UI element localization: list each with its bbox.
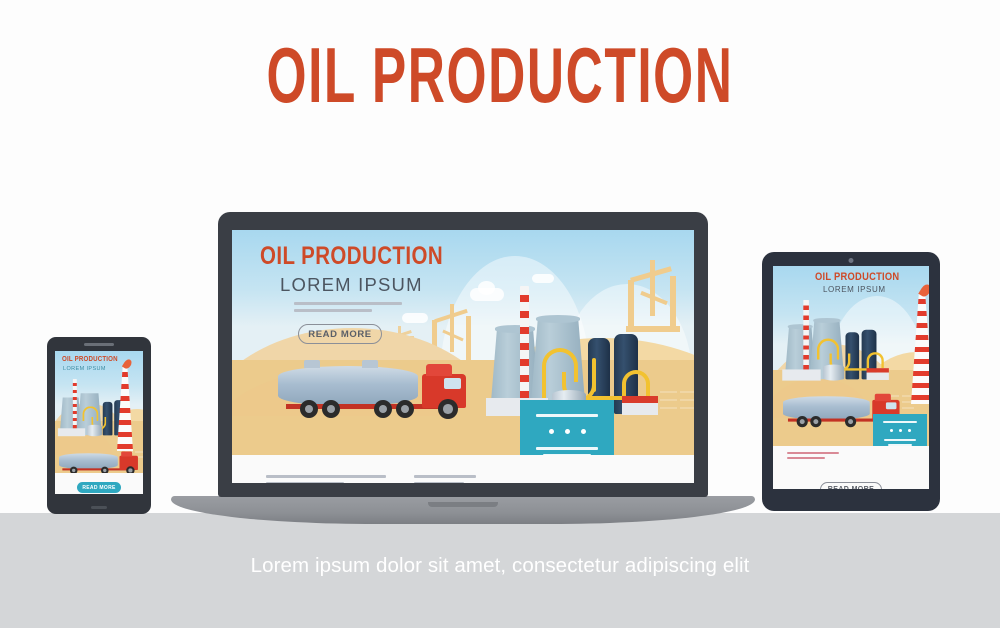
- card-dot-3: [581, 429, 586, 434]
- tablet-device: OIL PRODUCTION LOREM IPSUM: [762, 252, 940, 511]
- card-line-bottom-1: [536, 447, 598, 450]
- laptop-trackpad-notch: [428, 502, 498, 507]
- body-line-1: [294, 302, 402, 305]
- footer-right-line-2: [414, 482, 464, 483]
- phone-frame: OIL PRODUCTION LOREM IPSUM READ MORE: [47, 337, 151, 514]
- laptop-device: OIL PRODUCTION LOREM IPSUM READ MORE: [218, 212, 708, 497]
- tablet-truck-wheel-2: [810, 416, 821, 427]
- phone-drilling-derrick: [117, 365, 133, 451]
- truck-wheel-5: [438, 399, 458, 419]
- laptop-footer-block-left: [266, 475, 386, 483]
- pipe-loop-3: [622, 370, 650, 396]
- tablet-drilling-derrick: [911, 292, 929, 404]
- tablet-truck-cab-top: [875, 394, 891, 401]
- phone-derrick-body: [117, 365, 133, 451]
- cloud-4: [532, 274, 554, 283]
- tablet-smokestack: [803, 300, 809, 377]
- smokestack: [520, 286, 529, 410]
- truck-cab-top: [426, 364, 452, 376]
- cloud-3: [402, 313, 428, 323]
- phone-read-more-button[interactable]: READ MORE: [77, 482, 121, 493]
- phone-home-indicator: [91, 506, 107, 509]
- phone-subheadline: LOREM IPSUM: [63, 367, 106, 373]
- footer-right-line-1: [414, 475, 476, 478]
- oil-barrel-2: [680, 384, 694, 414]
- tablet-body-line-1: [787, 452, 839, 454]
- cooling-tower-2-rim: [536, 315, 580, 323]
- laptop-footer: [232, 455, 694, 483]
- shed-red: [622, 396, 658, 403]
- phone-tanker-truck: [59, 449, 93, 461]
- laptop-footer-block-right: [414, 475, 476, 483]
- tablet-refinery: [781, 300, 862, 372]
- phone-speaker-grill: [84, 343, 114, 346]
- tablet-tanker-truck: [783, 390, 857, 416]
- tablet-card-dot-3: [908, 429, 911, 432]
- laptop-headline: OIL PRODUCTION: [260, 244, 443, 269]
- tablet-body-block-left: [787, 452, 839, 459]
- tablet-footer: READ MORE: [773, 446, 929, 489]
- truck-wheel-2: [322, 400, 340, 418]
- truck-wheel-3: [374, 400, 392, 418]
- tablet-subheadline: LOREM IPSUM: [823, 286, 886, 294]
- tablet-cooling-tower-2-rim: [813, 318, 840, 323]
- truck-wheel-4: [396, 400, 414, 418]
- phone-truck-tank: [59, 453, 118, 469]
- card-dot-2: [565, 429, 570, 434]
- tablet-card-line-bottom-1: [884, 439, 916, 441]
- tablet-truck-wheel-3: [845, 416, 856, 427]
- truck-window: [444, 378, 461, 389]
- laptop-subheadline: LOREM IPSUM: [280, 276, 423, 295]
- tablet-card-dot-2: [899, 429, 902, 432]
- tablet-shed-small: [867, 373, 889, 380]
- pipe-segment-2: [592, 358, 596, 392]
- tablet-screen[interactable]: OIL PRODUCTION LOREM IPSUM: [773, 266, 929, 489]
- phone-footer: READ MORE: [55, 473, 143, 494]
- tablet-shed-long: [782, 369, 820, 380]
- tablet-pipe-loop-3: [867, 352, 884, 368]
- tablet-card-line-top: [883, 421, 917, 423]
- tablet-truck-wheel-1: [797, 416, 808, 427]
- phone-smokestack: [73, 379, 77, 434]
- tablet-derrick-body: [911, 292, 929, 404]
- laptop-body-text: [294, 302, 402, 312]
- laptop-screen[interactable]: OIL PRODUCTION LOREM IPSUM READ MORE: [232, 230, 694, 483]
- laptop-read-more-button[interactable]: READ MORE: [298, 324, 382, 344]
- tablet-frame: OIL PRODUCTION LOREM IPSUM: [762, 252, 940, 511]
- phone-truck-cab-top: [121, 452, 132, 457]
- phone-device: OIL PRODUCTION LOREM IPSUM READ MORE: [47, 337, 151, 514]
- card-dots: [520, 429, 614, 434]
- footer-left-line-1: [266, 475, 386, 478]
- laptop-tanker-truck: [278, 356, 478, 426]
- phone-refinery: [57, 379, 99, 417]
- cooling-tower-1-rim: [495, 325, 535, 333]
- poster-canvas: OIL PRODUCTION: [0, 0, 1000, 628]
- tablet-read-more-button[interactable]: READ MORE: [820, 482, 882, 489]
- page-title: OIL PRODUCTION: [110, 36, 890, 114]
- tablet-card-dot-1: [890, 429, 893, 432]
- phone-silver-tank: [87, 425, 102, 436]
- phone-shed-long: [58, 428, 85, 436]
- tablet-card-dots: [873, 429, 927, 432]
- poster-caption: Lorem ipsum dolor sit amet, consectetur …: [0, 554, 1000, 578]
- tablet-silver-tank: [823, 364, 844, 380]
- phone-screen[interactable]: OIL PRODUCTION LOREM IPSUM READ MORE: [55, 351, 143, 494]
- footer-left-line-2: [266, 482, 344, 483]
- oil-barrel-1: [660, 384, 677, 414]
- tablet-truck-window: [886, 402, 897, 409]
- card-dot-1: [549, 429, 554, 434]
- card-line-top: [536, 414, 598, 417]
- tablet-truck-tank: [783, 396, 870, 420]
- truck-hatch-2: [362, 360, 378, 368]
- tablet-camera-icon: [849, 258, 854, 263]
- truck-hatch-1: [304, 360, 320, 368]
- tablet-body-line-2: [787, 457, 825, 459]
- body-line-2: [294, 309, 372, 312]
- truck-wheel-1: [300, 400, 318, 418]
- phone-headline: OIL PRODUCTION: [62, 356, 118, 363]
- tablet-headline: OIL PRODUCTION: [815, 272, 899, 283]
- laptop-lid: OIL PRODUCTION LOREM IPSUM READ MORE: [218, 212, 708, 497]
- truck-tank: [278, 366, 418, 406]
- shed-small: [622, 403, 658, 415]
